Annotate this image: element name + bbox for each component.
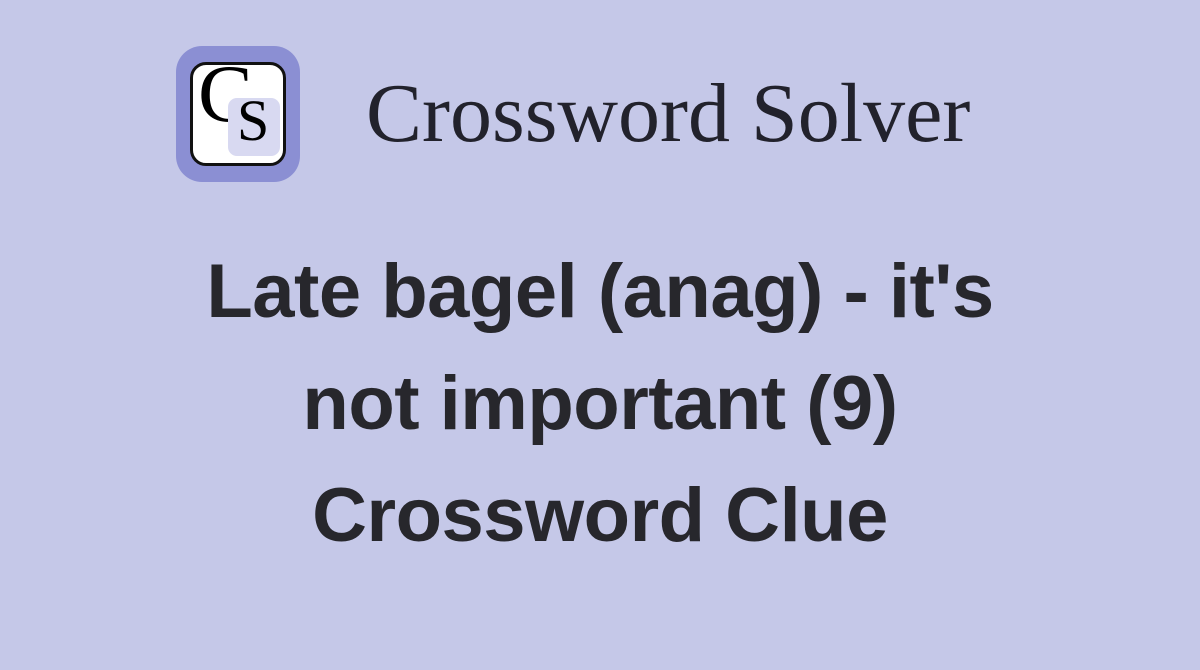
brand-name: Crossword Solver	[366, 72, 970, 156]
logo-letter-s: S	[237, 92, 269, 150]
site-header: C S Crossword Solver	[0, 0, 1200, 228]
page-title-line-3: Crossword Clue	[60, 460, 1140, 572]
logo-inner-tile: C S	[190, 62, 286, 166]
crossword-solver-logo-icon: C S	[176, 46, 300, 182]
page-root: C S Crossword Solver Late bagel (anag) -…	[0, 0, 1200, 670]
page-title: Late bagel (anag) - it's not important (…	[0, 236, 1200, 572]
page-title-line-2: not important (9)	[60, 348, 1140, 460]
brand-home-link[interactable]: C S Crossword Solver	[176, 46, 970, 182]
page-title-line-1: Late bagel (anag) - it's	[60, 236, 1140, 348]
